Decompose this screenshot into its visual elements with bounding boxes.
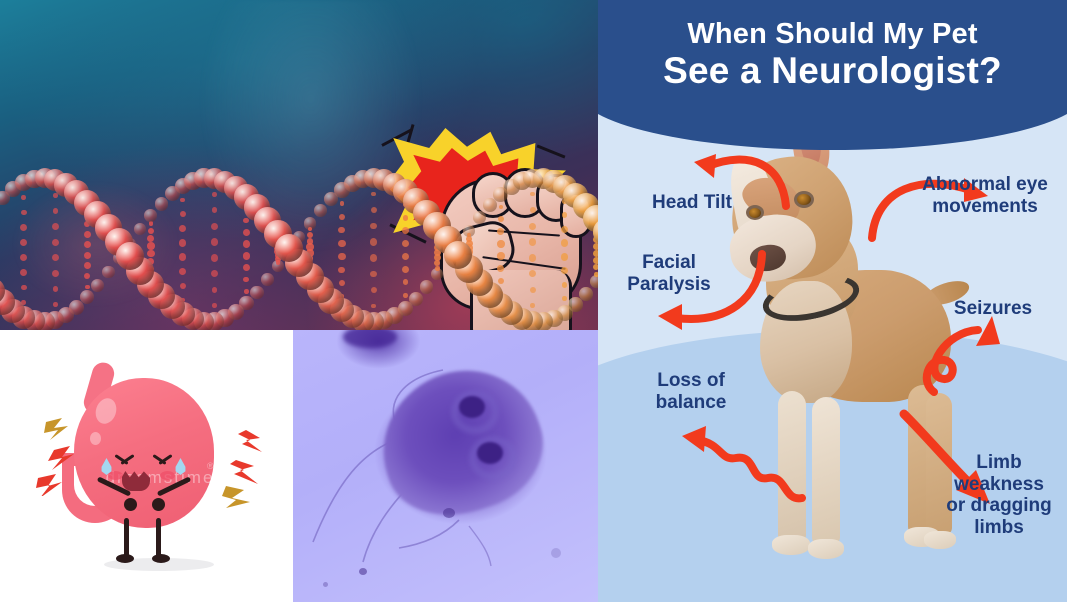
dna-base-pair — [243, 229, 250, 236]
hand-left — [124, 498, 137, 511]
symptom-line: Paralysis — [604, 274, 734, 296]
dna-base-pair — [148, 228, 154, 234]
dna-base-pair — [498, 278, 504, 284]
dna-nucleotide — [116, 242, 144, 270]
dna-base-pair — [84, 262, 91, 269]
dna-base-pair — [179, 239, 186, 246]
dna-base-pair — [53, 302, 58, 307]
dna-base-pair — [179, 268, 186, 275]
dna-base-pair — [53, 286, 59, 292]
dna-base-pair — [338, 240, 345, 247]
foot-left — [116, 554, 134, 563]
symptom-line: movements — [910, 196, 1060, 218]
dna-base-pair — [179, 225, 186, 232]
pain-bolt-left — [36, 416, 96, 496]
dna-base-pair — [371, 207, 377, 213]
cheek-right — [160, 471, 175, 480]
leg-right — [156, 518, 161, 558]
dna-base-pair — [594, 272, 598, 277]
symptom-line: balance — [626, 392, 756, 414]
dna-base-pair — [593, 264, 598, 270]
dna-base-pair — [561, 253, 568, 260]
dog-paw — [808, 539, 844, 559]
symptom-line: Loss of — [626, 370, 756, 392]
symptom-label-head-tilt: Head Tilt — [622, 192, 762, 214]
dna-base-pair — [211, 270, 218, 277]
dna-base-pair — [338, 227, 345, 234]
nucleus-upper — [459, 396, 485, 418]
dna-base-pair — [243, 277, 249, 283]
dog-eye-right — [797, 194, 811, 205]
dna-base-pair — [529, 223, 536, 230]
dna-base-pair — [147, 235, 154, 242]
dna-base-pair — [212, 207, 218, 213]
dna-base-pair — [212, 192, 217, 197]
symptom-label-facial-paralysis: Facial Paralysis — [604, 252, 734, 295]
speck — [323, 582, 328, 587]
dna-base-pair — [20, 239, 27, 246]
giardia-microscopy-panel — [293, 330, 598, 602]
dna-base-pair — [371, 304, 376, 309]
dna-base-pair — [20, 224, 27, 231]
dna-base-pair — [402, 227, 409, 234]
dna-base-pair — [497, 240, 504, 247]
dna-base-pair — [211, 254, 218, 261]
speck — [359, 568, 367, 575]
dna-base-pair — [403, 293, 408, 298]
dna-base-pair — [84, 273, 90, 279]
arrow-seizures — [914, 312, 1024, 398]
dna-nucleotide — [91, 279, 104, 292]
symptom-line: Facial — [604, 252, 734, 274]
dna-base-pair — [85, 285, 90, 290]
dna-base-pair — [52, 270, 59, 277]
dna-base-pair — [562, 282, 568, 288]
arrow-loss-of-balance — [676, 418, 816, 506]
symptom-line: Limb — [936, 452, 1062, 474]
dog-paw — [772, 535, 810, 555]
dna-base-pair — [561, 226, 568, 233]
dna-base-pair — [147, 250, 154, 257]
dna-nucleotide — [261, 273, 274, 286]
nucleus-lower — [477, 442, 503, 464]
eye-left — [114, 452, 134, 468]
dna-base-pair — [307, 238, 314, 245]
header-title-line2: See a Neurologist? — [598, 50, 1067, 92]
dna-base-pair — [180, 283, 186, 289]
dna-base-pair — [530, 207, 536, 213]
dna-base-pair — [52, 254, 59, 261]
dna-base-pair — [530, 287, 536, 293]
symptom-line: Abnormal eye — [910, 174, 1060, 196]
cartoon-stomach-panel: dreamstime ® — [0, 330, 293, 602]
dna-base-pair — [370, 223, 377, 230]
dna-base-pair — [21, 210, 27, 216]
foot-right — [152, 554, 170, 563]
dna-base-pair — [371, 192, 376, 197]
dna-base-pair — [593, 257, 598, 264]
dna-base-pair — [370, 238, 377, 245]
symptom-line: Head Tilt — [622, 192, 762, 214]
spark-line — [537, 144, 566, 158]
dna-base-pair — [402, 266, 409, 273]
dna-base-pair — [147, 242, 154, 249]
dna-base-pair — [403, 215, 409, 221]
stomach-character: dreamstime ® — [52, 358, 242, 573]
dna-base-pair — [212, 303, 217, 308]
dna-base-pair — [52, 223, 59, 230]
dna-base-pair — [338, 253, 345, 260]
symptom-line: weakness — [936, 474, 1062, 496]
dna-base-pair — [370, 254, 377, 261]
dna-base-pair — [84, 252, 91, 259]
dna-base-pair — [212, 287, 218, 293]
mouth — [122, 471, 150, 491]
dna-base-pair — [21, 285, 27, 291]
dna-base-pair — [211, 223, 218, 230]
symptom-line: limbs — [936, 517, 1062, 539]
dna-nucleotide — [144, 209, 157, 222]
cheek-left — [108, 471, 123, 480]
symptom-line: or dragging — [936, 495, 1062, 517]
dna-base-pair — [497, 252, 504, 259]
hand-right — [152, 498, 165, 511]
dna-base-pair — [243, 252, 250, 259]
leg-left — [124, 518, 129, 558]
dna-base-pair — [530, 303, 535, 308]
dna-helix-panel — [0, 0, 598, 330]
dna-base-pair — [211, 238, 218, 245]
dna-nucleotide — [314, 204, 327, 217]
dna-base-pair — [307, 232, 313, 238]
pain-bolt-right — [202, 428, 264, 510]
dna-base-pair — [529, 254, 536, 261]
dna-base-pair — [562, 296, 567, 301]
dna-base-pair — [243, 264, 250, 271]
dna-base-pair — [84, 241, 91, 248]
symptom-label-limb-weakness: Limb weakness or dragging limbs — [936, 452, 1062, 539]
dog-front-leg-near — [812, 397, 840, 545]
dna-base-pair — [53, 208, 59, 214]
header-title-line1: When Should My Pet — [598, 18, 1067, 51]
dna-nucleotide — [590, 275, 598, 288]
dna-nucleotide — [275, 234, 303, 262]
dna-base-pair — [339, 280, 345, 286]
dna-base-pair — [180, 211, 186, 217]
dna-base-pair — [20, 269, 27, 276]
dna-base-pair — [243, 240, 250, 247]
dna-base-pair — [84, 231, 91, 238]
dna-nucleotide — [102, 266, 114, 278]
dna-nucleotide — [473, 211, 486, 224]
symptom-label-seizures: Seizures — [938, 298, 1048, 320]
symptom-label-loss-of-balance: Loss of balance — [626, 370, 756, 413]
dna-base-pair — [370, 271, 377, 278]
symptom-line: Seizures — [938, 298, 1048, 320]
dna-nucleotide — [250, 286, 264, 300]
dna-base-pair — [179, 253, 186, 260]
dna-base-pair — [371, 287, 377, 293]
dna-base-pair — [244, 289, 249, 294]
dna-base-pair — [20, 254, 27, 261]
dna-base-pair — [308, 227, 313, 232]
speck — [443, 508, 455, 518]
symptom-label-abnormal-eye: Abnormal eye movements — [910, 174, 1060, 217]
image-collage: dreamstime ® — [0, 0, 1067, 602]
dna-base-pair — [338, 267, 345, 274]
pet-neurologist-infographic: When Should My Pet See a Neurologist? — [598, 0, 1067, 602]
dna-base-pair — [339, 214, 345, 220]
dna-base-pair — [435, 266, 440, 271]
dna-nucleotide — [134, 223, 146, 235]
dna-nucleotide — [420, 280, 433, 293]
dna-base-pair — [561, 239, 568, 246]
dna-base-pair — [180, 198, 185, 203]
speck — [551, 548, 561, 558]
eye-right — [152, 452, 172, 468]
dna-nucleotide — [155, 197, 169, 211]
dna-base-pair — [52, 239, 59, 246]
dna-base-pair — [21, 195, 26, 200]
dna-base-pair — [340, 201, 345, 206]
